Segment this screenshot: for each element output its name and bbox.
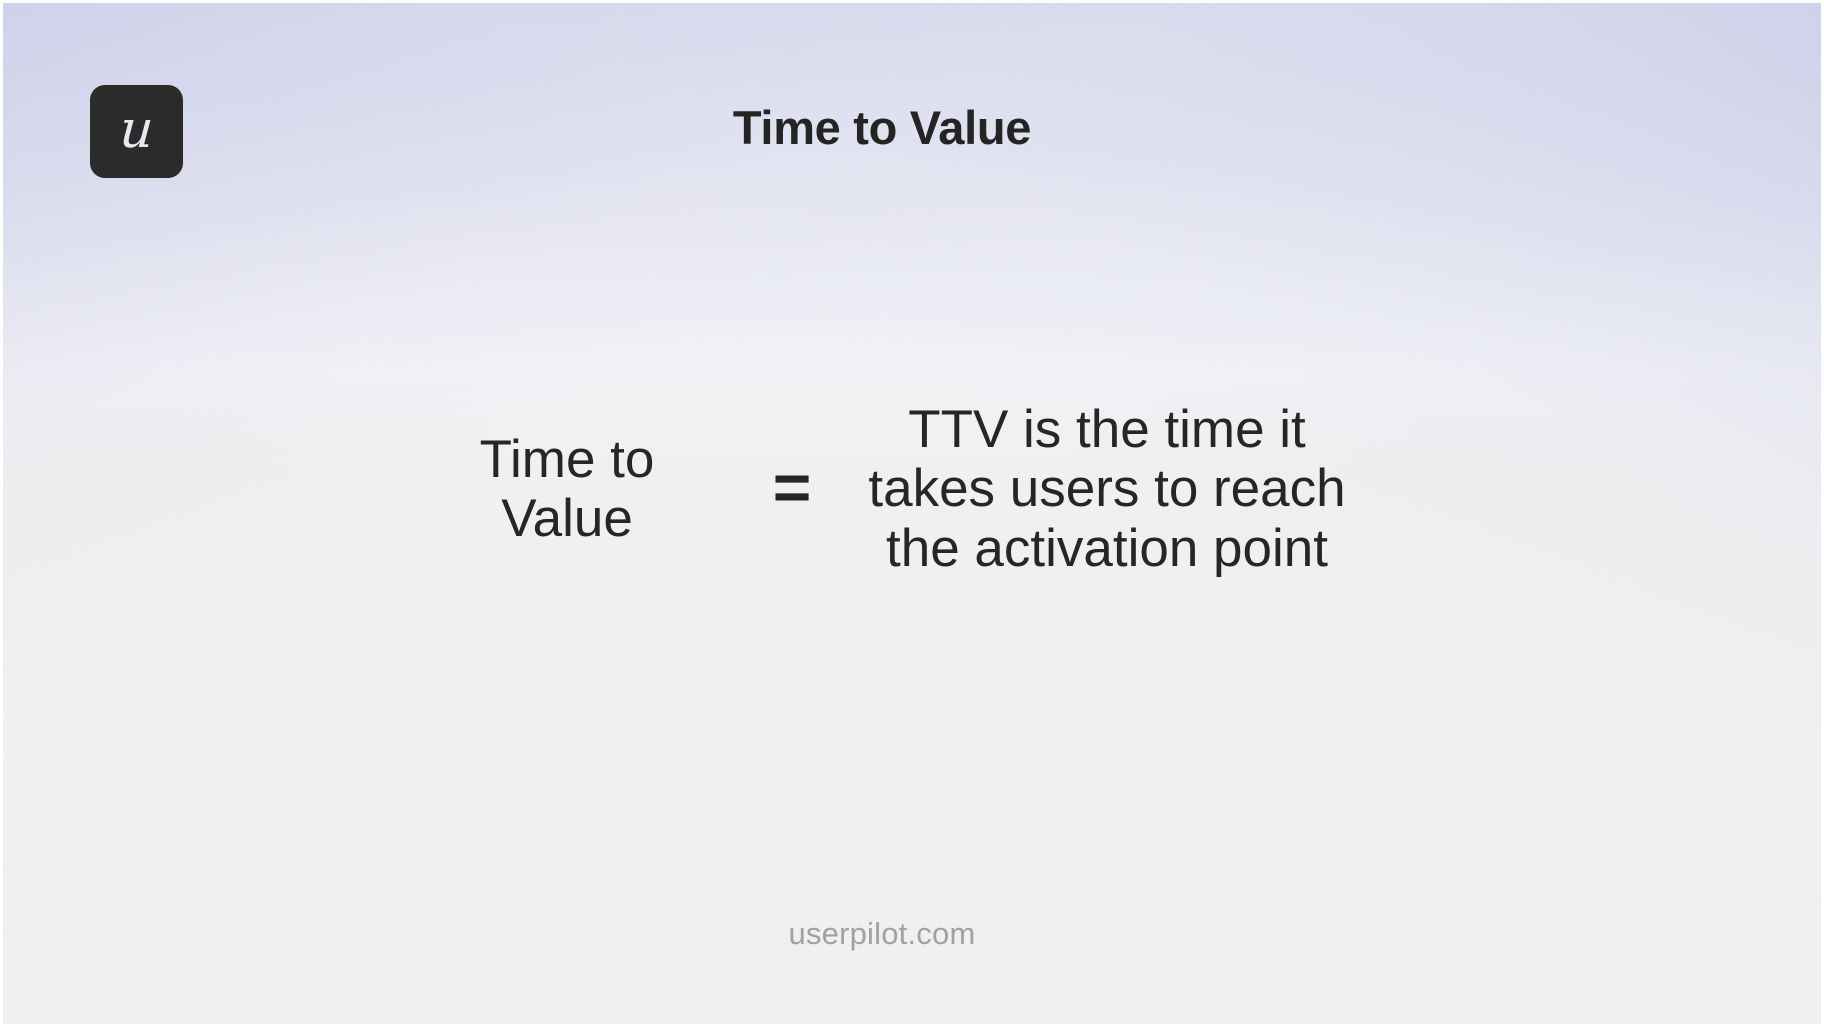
slide-canvas: u Time to Value Time to Value = TTV is t… [0,0,1824,1027]
equation-left-term: Time to Value [417,430,717,549]
equation-right-term: TTV is the time it takes users to reach … [867,400,1347,578]
equation-row: Time to Value = TTV is the time it takes… [0,400,1824,578]
equals-sign-icon: = [773,454,812,520]
slide-content: u Time to Value Time to Value = TTV is t… [0,0,1824,1027]
equation-operator: = [717,456,867,522]
footer-source-label: userpilot.com [0,916,1824,952]
page-title: Time to Value [0,100,1824,155]
